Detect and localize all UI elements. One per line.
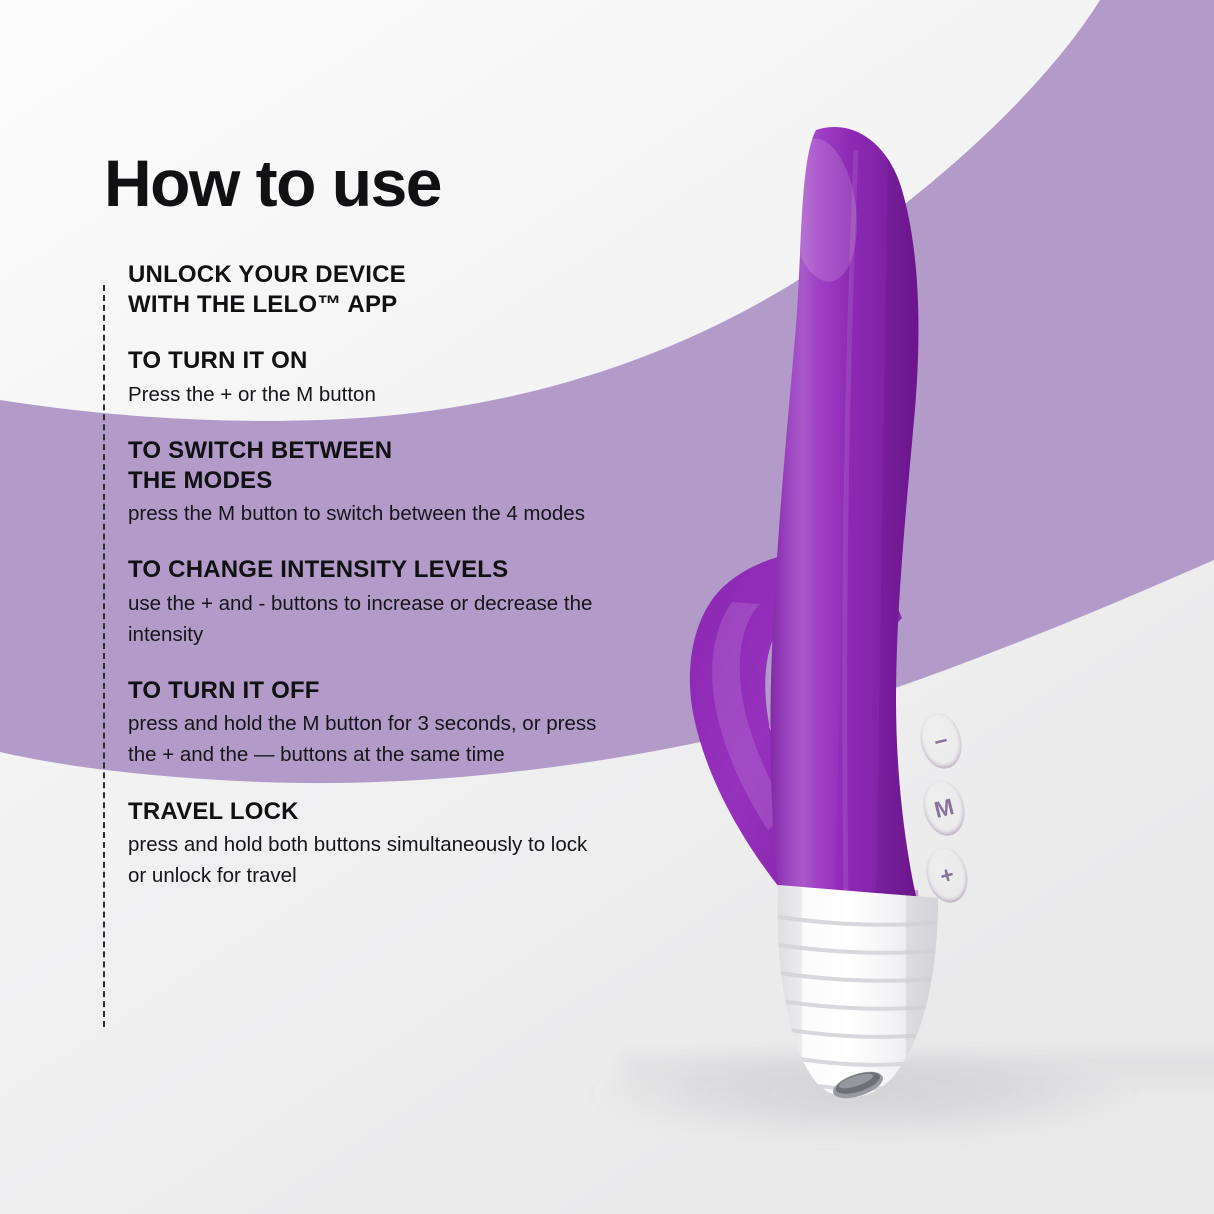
step-body: press and hold the M button for 3 second… — [128, 708, 608, 770]
step-body: press the M button to switch between the… — [128, 498, 608, 529]
product-image: − M + — [620, 90, 1140, 1100]
step-travel-lock: TRAVEL LOCK press and hold both buttons … — [104, 797, 644, 892]
step-heading: TO TURN IT OFF — [128, 676, 644, 706]
product-secondary-arm — [690, 552, 902, 924]
step-unlock-device: UNLOCK YOUR DEVICE WITH THE LELO™ APP — [104, 260, 644, 320]
step-heading: TRAVEL LOCK — [128, 797, 644, 827]
page-title: How to use — [104, 150, 644, 216]
step-heading: TO TURN IT ON — [128, 346, 644, 376]
mode-button[interactable]: M — [918, 776, 970, 840]
product-base-ribs — [760, 885, 960, 1100]
product-main-shaft — [770, 127, 918, 902]
decrease-intensity-button[interactable]: − — [915, 709, 967, 773]
step-change-intensity: TO CHANGE INTENSITY LEVELS use the + and… — [104, 555, 644, 650]
step-turn-off: TO TURN IT OFF press and hold the M butt… — [104, 676, 644, 771]
step-turn-on: TO TURN IT ON Press the + or the M butto… — [104, 346, 644, 409]
step-switch-modes: TO SWITCH BETWEEN THE MODES press the M … — [104, 436, 644, 530]
how-to-use-infographic: − M + How to use UNLOCK YOUR DEVICE WITH… — [0, 0, 1214, 1214]
product-floor-contact — [620, 1055, 1214, 1095]
step-heading: TO CHANGE INTENSITY LEVELS — [128, 555, 644, 585]
step-body: Press the + or the M button — [128, 379, 608, 410]
product-base — [778, 885, 938, 1097]
increase-intensity-button[interactable]: + — [921, 843, 973, 907]
step-heading: UNLOCK YOUR DEVICE WITH THE LELO™ APP — [128, 260, 644, 320]
charging-port — [830, 1067, 886, 1100]
step-heading: TO SWITCH BETWEEN THE MODES — [128, 436, 644, 496]
product-floor-shadow — [560, 1040, 1214, 1160]
step-body: use the + and - buttons to increase or d… — [128, 588, 608, 650]
instructions-column: How to use UNLOCK YOUR DEVICE WITH THE L… — [104, 150, 644, 891]
step-body: press and hold both buttons simultaneous… — [128, 829, 608, 891]
